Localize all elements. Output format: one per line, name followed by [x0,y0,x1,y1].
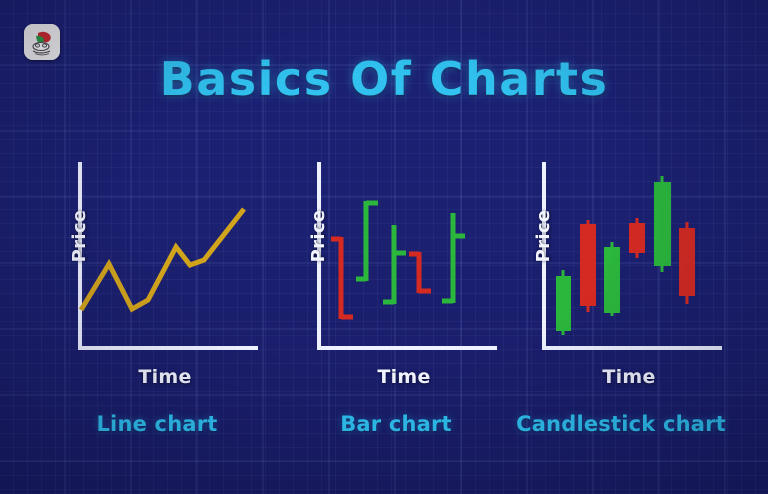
x-axis-label: Time [309,366,499,388]
page-title: Basics Of Charts [0,52,768,106]
caption-candlestick-chart: Candlestick chart [482,412,760,436]
x-axis-label: Time [70,366,260,388]
candlestick [604,242,620,316]
ohlc-bar [356,201,378,281]
candlestick [654,176,671,272]
line-series [81,209,244,310]
candlestick [556,270,571,335]
panel-bar-chart: Price Time Bar chart [281,160,511,450]
candlestick [580,220,596,312]
ohlc-bar [383,225,406,304]
ohlc-bar [409,252,431,293]
candlestick [629,218,645,258]
candlestick [679,222,695,304]
y-axis-label: Price [308,191,329,281]
ohlc-bar [331,237,353,319]
x-axis-label: Time [534,366,724,388]
bar-chart-plot [309,160,499,365]
infographic-canvas: Basics Of Charts Price Time Line chart [0,0,768,494]
y-axis-label: Price [69,191,90,281]
y-axis-label: Price [533,191,554,281]
panel-candlestick-chart: Price Time Candlestick chart [506,160,736,450]
panel-line-chart: Price Time Line chart [42,160,272,450]
caption-line-chart: Line chart [32,412,282,436]
chart-axes [80,164,256,348]
candlestick-chart-plot [534,160,724,365]
line-chart-plot [70,160,260,365]
ohlc-bar [442,213,465,303]
chart-axes [319,164,495,348]
